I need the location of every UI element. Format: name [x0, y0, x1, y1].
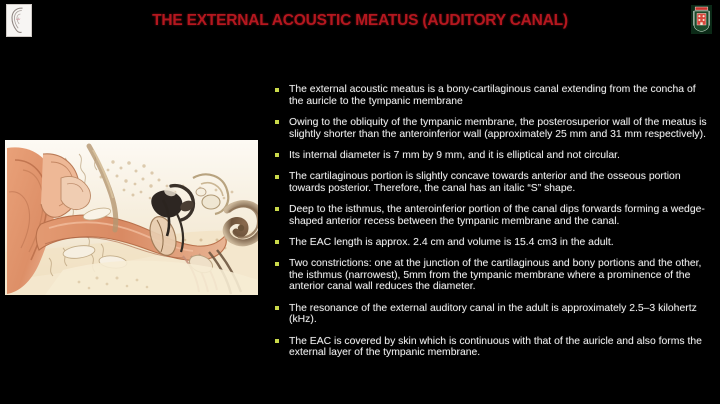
list-item-text: Owing to the obliquity of the tympanic m…: [289, 117, 712, 140]
bullet-list: The external acoustic meatus is a bony-c…: [272, 84, 712, 359]
list-item-text: The EAC length is approx. 2.4 cm and vol…: [289, 237, 712, 249]
university-crest-logo: [691, 5, 712, 34]
bullet-marker-icon: [275, 120, 279, 124]
slide-header: ear THE EXTERNAL ACOUSTIC MEATUS (AUDITO…: [0, 0, 720, 42]
list-item: Its internal diameter is 7 mm by 9 mm, a…: [272, 150, 712, 162]
bullet-marker-icon: [275, 262, 279, 266]
slide: ear THE EXTERNAL ACOUSTIC MEATUS (AUDITO…: [0, 0, 720, 404]
list-item-text: The external acoustic meatus is a bony-c…: [289, 84, 712, 107]
list-item-text: The cartilaginous portion is slightly co…: [289, 171, 712, 194]
bullet-marker-icon: [275, 339, 279, 343]
list-item: The EAC length is approx. 2.4 cm and vol…: [272, 237, 712, 249]
ear-outline-logo: ear: [6, 4, 32, 37]
bullet-marker-icon: [275, 306, 279, 310]
list-item: Two constrictions: one at the junction o…: [272, 258, 712, 293]
ear-anatomy-illustration: [5, 140, 258, 295]
bullet-marker-icon: [275, 153, 279, 157]
list-item-text: Deep to the isthmus, the anteroinferior …: [289, 204, 712, 227]
list-item-text: Two constrictions: one at the junction o…: [289, 258, 712, 293]
list-item-text: The resonance of the external auditory c…: [289, 303, 712, 326]
bullet-marker-icon: [275, 88, 279, 92]
list-item: Owing to the obliquity of the tympanic m…: [272, 117, 712, 140]
bullet-marker-icon: [275, 207, 279, 211]
list-item: Deep to the isthmus, the anteroinferior …: [272, 204, 712, 227]
page-title: THE EXTERNAL ACOUSTIC MEATUS (AUDITORY C…: [60, 12, 660, 30]
list-item-text: Its internal diameter is 7 mm by 9 mm, a…: [289, 150, 712, 162]
bullet-marker-icon: [275, 175, 279, 179]
list-item-text: The EAC is covered by skin which is cont…: [289, 336, 712, 359]
svg-text:ear: ear: [16, 17, 20, 21]
list-item: The resonance of the external auditory c…: [272, 303, 712, 326]
bullet-marker-icon: [275, 240, 279, 244]
list-item: The EAC is covered by skin which is cont…: [272, 336, 712, 359]
list-item: The cartilaginous portion is slightly co…: [272, 171, 712, 194]
list-item: The external acoustic meatus is a bony-c…: [272, 84, 712, 107]
